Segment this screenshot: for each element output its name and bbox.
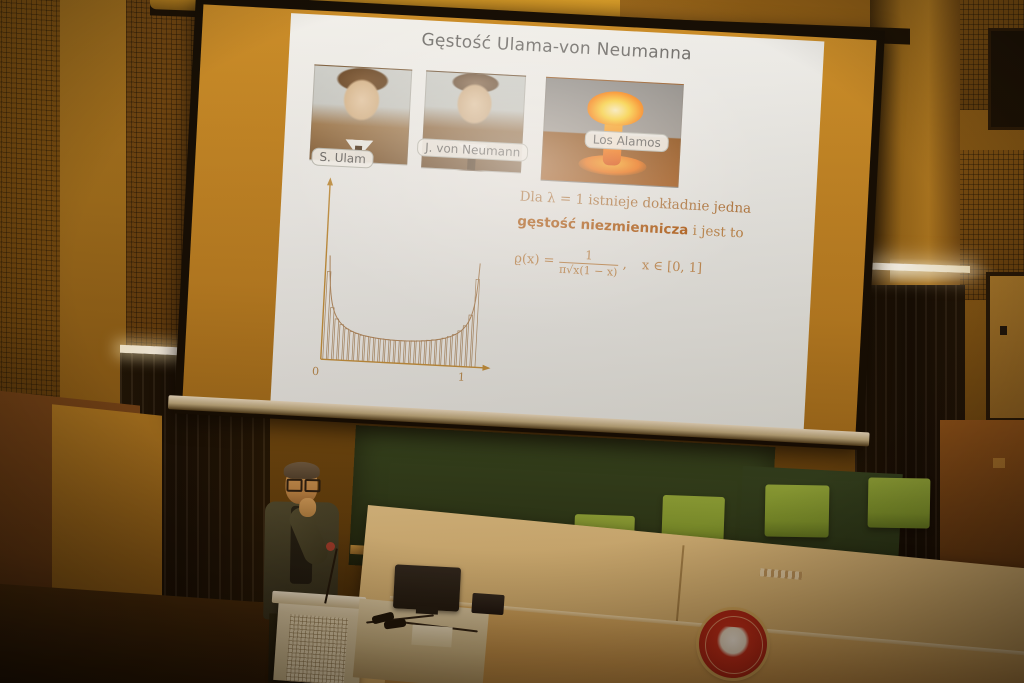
chart-bar xyxy=(374,338,379,362)
chart-bars xyxy=(323,271,480,367)
lecture-hall-photo: Gęstość Ulama-von Neumanna S. Ulam J. vo… xyxy=(0,0,1024,683)
formula-domain: x ∈ [0, 1] xyxy=(642,258,703,276)
chart-curve xyxy=(326,255,480,344)
chart-bar xyxy=(395,340,400,363)
av-control-box xyxy=(471,593,504,615)
chart-bar xyxy=(405,341,410,364)
density-chart: 0 1 xyxy=(297,172,508,400)
projection-screen: Gęstość Ulama-von Neumanna S. Ulam J. vo… xyxy=(173,0,899,461)
paper-sheet xyxy=(411,625,452,648)
chart-bar xyxy=(430,340,435,365)
chart-bar xyxy=(379,339,384,363)
chair xyxy=(868,477,931,528)
wall-outlet-right xyxy=(993,458,1005,468)
chart-bar xyxy=(446,337,451,366)
formula-numerator: 1 xyxy=(585,249,593,262)
chart-bar xyxy=(410,341,415,364)
x-axis-label-origin: 0 xyxy=(312,365,320,378)
chart-bar xyxy=(436,339,441,365)
chart-bar xyxy=(364,336,369,361)
eyeglasses-icon xyxy=(304,479,320,492)
emblem-eagle-icon xyxy=(716,626,750,658)
density-formula: ϱ(x) = 1 π√x(1 − x) , x ∈ [0, 1] xyxy=(514,245,703,282)
caption-ulam: S. Ulam xyxy=(311,147,374,168)
lens-flare xyxy=(890,258,1000,284)
chart-bar xyxy=(338,325,343,361)
x-axis-arrow xyxy=(482,365,490,371)
chart-bar xyxy=(415,341,420,365)
mushroom-cloud-icon xyxy=(587,90,645,127)
chart-bar xyxy=(384,339,389,362)
speaker-hair xyxy=(284,462,320,480)
slide-text-line-2-rest: i jest to xyxy=(688,223,744,242)
framed-panel-upper-right xyxy=(988,28,1024,130)
slide-text-line-2: gęstość niezmiennicza i jest to xyxy=(517,213,744,241)
chart-bar xyxy=(354,334,359,362)
chart-bar xyxy=(461,326,467,367)
speaker-hand xyxy=(299,498,316,517)
presentation-slide: Gęstość Ulama-von Neumanna S. Ulam J. vo… xyxy=(270,13,825,441)
formula-lhs: ϱ(x) = xyxy=(514,251,555,268)
chart-bar xyxy=(369,337,374,362)
lectern-panel xyxy=(286,614,349,683)
slide-text-line-1: Dla λ = 1 istnieje dokładnie jedna xyxy=(519,189,751,217)
framed-board-right xyxy=(986,272,1024,422)
chart-bar xyxy=(359,335,364,361)
chart-bar xyxy=(333,319,339,360)
chart-bar xyxy=(456,331,461,367)
confidence-monitor xyxy=(393,564,461,611)
eyeglasses-icon xyxy=(286,479,302,492)
y-axis-arrow xyxy=(327,177,333,185)
x-axis-label-end: 1 xyxy=(458,370,466,383)
chart-bar xyxy=(420,341,425,365)
chart-bar xyxy=(471,279,479,367)
formula-comma: , xyxy=(622,257,627,272)
chart-bar xyxy=(425,340,430,365)
slide-text-emphasis: gęstość niezmiennicza xyxy=(517,213,689,238)
density-chart-svg: 0 1 xyxy=(297,172,508,400)
monitor-stand xyxy=(416,605,438,614)
microphone-icon xyxy=(326,542,335,551)
chart-bar xyxy=(389,340,394,363)
chair xyxy=(765,484,830,537)
chart-bar xyxy=(348,331,353,360)
chart-bar xyxy=(441,338,446,366)
chart-bar xyxy=(400,341,405,364)
chart-bar xyxy=(451,334,456,366)
board-dot xyxy=(1000,326,1007,335)
formula-denominator: π√x(1 − x) xyxy=(559,263,618,278)
formula-fraction: 1 π√x(1 − x) xyxy=(559,248,619,278)
chart-bar xyxy=(343,329,348,361)
